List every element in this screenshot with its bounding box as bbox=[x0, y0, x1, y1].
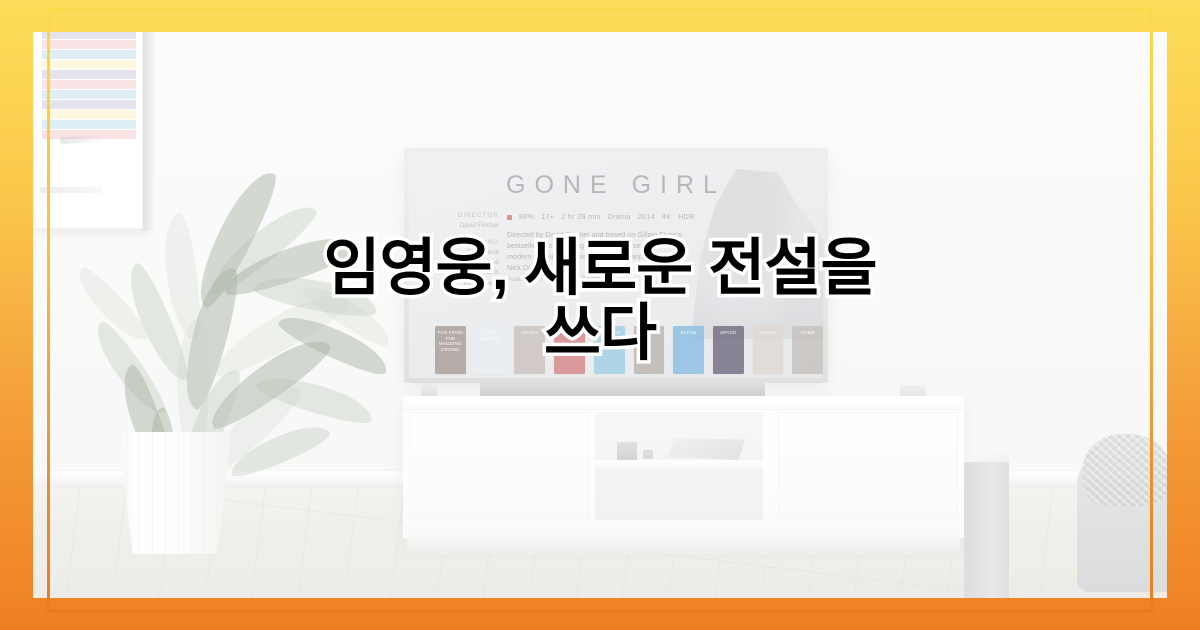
page-title: 임영웅, 새로운 전설을 쓰다 bbox=[0, 236, 1200, 366]
social-card: GONE GIRL DIRECTOR David Fincher STARRIN… bbox=[0, 0, 1200, 630]
headline-line-2: 쓰다 bbox=[0, 301, 1200, 366]
headline-line-1: 임영웅, 새로운 전설을 bbox=[0, 236, 1200, 301]
